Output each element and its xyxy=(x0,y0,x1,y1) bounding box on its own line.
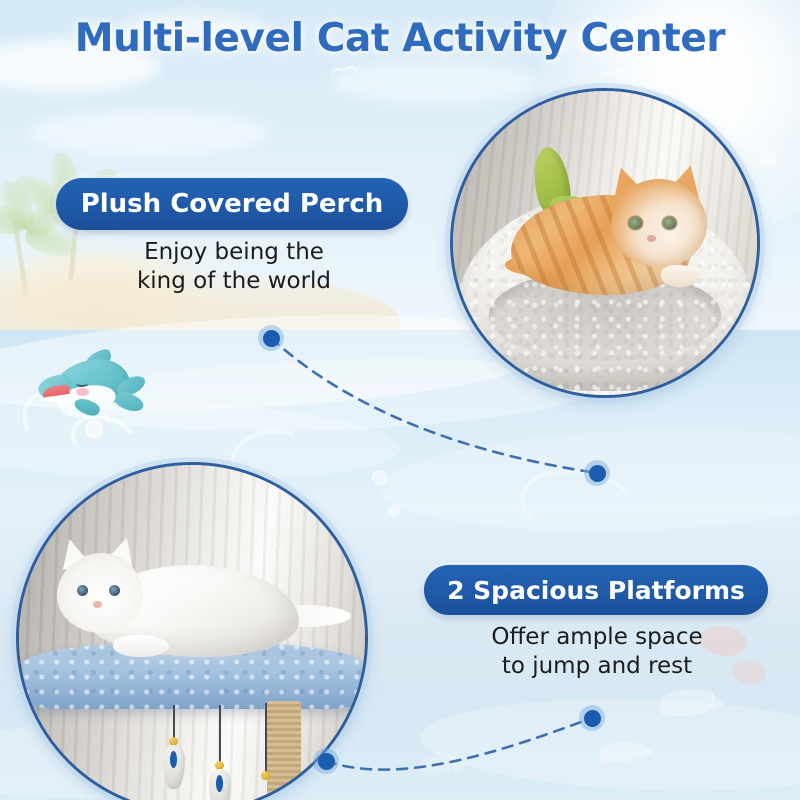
fish-silhouette xyxy=(660,690,714,716)
connector-dot-perch-start xyxy=(258,325,284,351)
feature-description-line: Offer ample space xyxy=(422,623,772,652)
product-infographic: Multi-level Cat Activity Center xyxy=(0,0,800,800)
feature-description-line: Enjoy being the xyxy=(54,238,414,267)
dolphin-eye xyxy=(76,380,88,387)
toy-string xyxy=(219,705,221,767)
feature-description-line: king of the world xyxy=(54,267,414,296)
kitten-head xyxy=(611,179,707,267)
water-swirl xyxy=(515,460,643,549)
feature-label-spacious-platforms: 2 Spacious Platforms xyxy=(424,565,768,615)
bird-icon xyxy=(329,67,346,79)
cat-nose xyxy=(93,601,102,608)
kitten-eye xyxy=(663,217,676,229)
bubble-shape xyxy=(388,505,400,517)
feature-label-plush-covered-perch: Plush Covered Perch xyxy=(56,178,408,230)
cat-paw xyxy=(113,635,169,657)
photo-spacious-platforms xyxy=(16,462,368,800)
cloud-shape xyxy=(30,110,270,156)
hanging-fish-toy xyxy=(209,769,231,800)
bubble-shape xyxy=(372,470,387,485)
photo-plush-covered-perch xyxy=(450,88,760,398)
dolphin-tail xyxy=(112,378,148,412)
fish-silhouette xyxy=(420,756,456,773)
kitten-eye xyxy=(629,217,642,229)
bell-icon xyxy=(261,771,270,780)
bird-icon xyxy=(599,71,616,83)
dolphin-mascot xyxy=(36,352,148,434)
cat-head xyxy=(57,553,143,633)
kitten-paw xyxy=(661,265,699,287)
white-cat xyxy=(55,539,325,669)
connector-dot-platform-start xyxy=(313,748,339,774)
fish-silhouette xyxy=(600,742,642,762)
wave-shape xyxy=(419,692,800,798)
sisal-scratching-post xyxy=(267,701,301,800)
cat-eye xyxy=(109,585,120,596)
orange-kitten xyxy=(511,161,727,301)
dolphin-blush xyxy=(76,388,89,396)
connector-dot-perch-end xyxy=(584,460,610,486)
feature-description-spacious-platforms: Offer ample space to jump and rest xyxy=(422,623,772,682)
feature-description-line: to jump and rest xyxy=(422,652,772,681)
connector-platform-path xyxy=(326,718,592,770)
toy-string xyxy=(265,703,267,777)
kitten-nose xyxy=(647,235,656,242)
feature-description-plush-covered-perch: Enjoy being the king of the world xyxy=(54,238,414,297)
cat-eye xyxy=(77,585,88,596)
page-title: Multi-level Cat Activity Center xyxy=(0,16,800,61)
bubble-shape xyxy=(760,150,777,167)
connector-dot-platform-end xyxy=(579,705,605,731)
